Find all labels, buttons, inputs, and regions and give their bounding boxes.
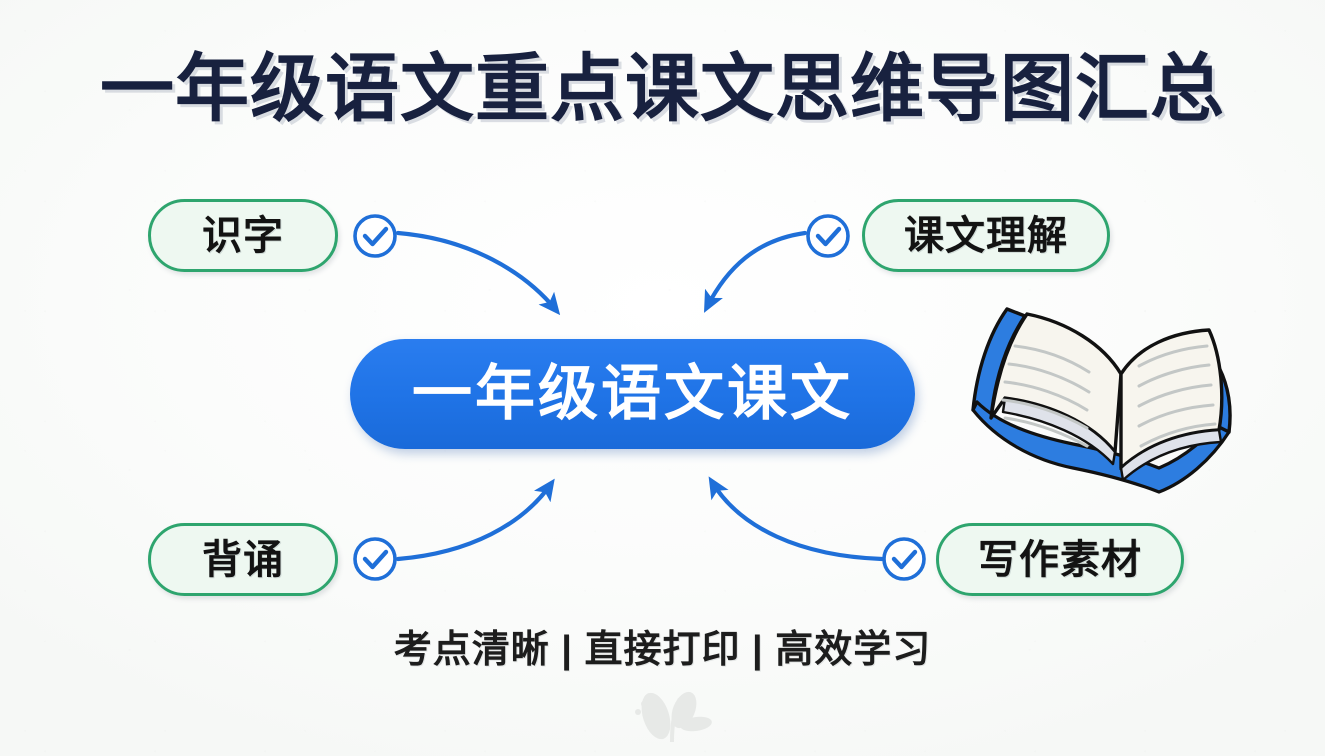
leaf-watermark-icon <box>612 682 732 746</box>
poster-canvas: 一年级语文重点课文思维导图汇总 <box>0 0 1325 756</box>
check-circle-icon-beisong <box>355 539 395 579</box>
arrow-shizi-to-center <box>398 233 556 310</box>
branch-node-beisong[interactable]: 背诵 <box>148 523 338 596</box>
branch-label: 写作素材 <box>978 540 1142 580</box>
check-circle-icon-shizi <box>355 216 395 256</box>
center-node[interactable]: 一年级语文课文 <box>350 339 915 449</box>
branch-label: 背诵 <box>202 540 284 580</box>
branch-label: 课文理解 <box>904 216 1068 256</box>
check-circle-icon-kewen <box>808 216 848 256</box>
check-circle-icon-xiezuo <box>884 539 924 579</box>
branch-node-kewen-lijie[interactable]: 课文理解 <box>862 199 1110 272</box>
branch-label: 识字 <box>202 216 284 256</box>
open-book-icon <box>963 292 1255 502</box>
arrow-kewen-to-center <box>707 233 805 307</box>
arrow-xiezuo-to-center <box>712 482 882 559</box>
page-title: 一年级语文重点课文思维导图汇总 <box>0 52 1325 126</box>
branch-node-shizi[interactable]: 识字 <box>148 199 338 272</box>
arrow-beisong-to-center <box>398 484 551 559</box>
branch-node-xiezuo-sucai[interactable]: 写作素材 <box>936 523 1184 596</box>
caption-text: 考点清晰 | 直接打印 | 高效学习 <box>0 618 1325 673</box>
center-node-label: 一年级语文课文 <box>412 364 853 424</box>
